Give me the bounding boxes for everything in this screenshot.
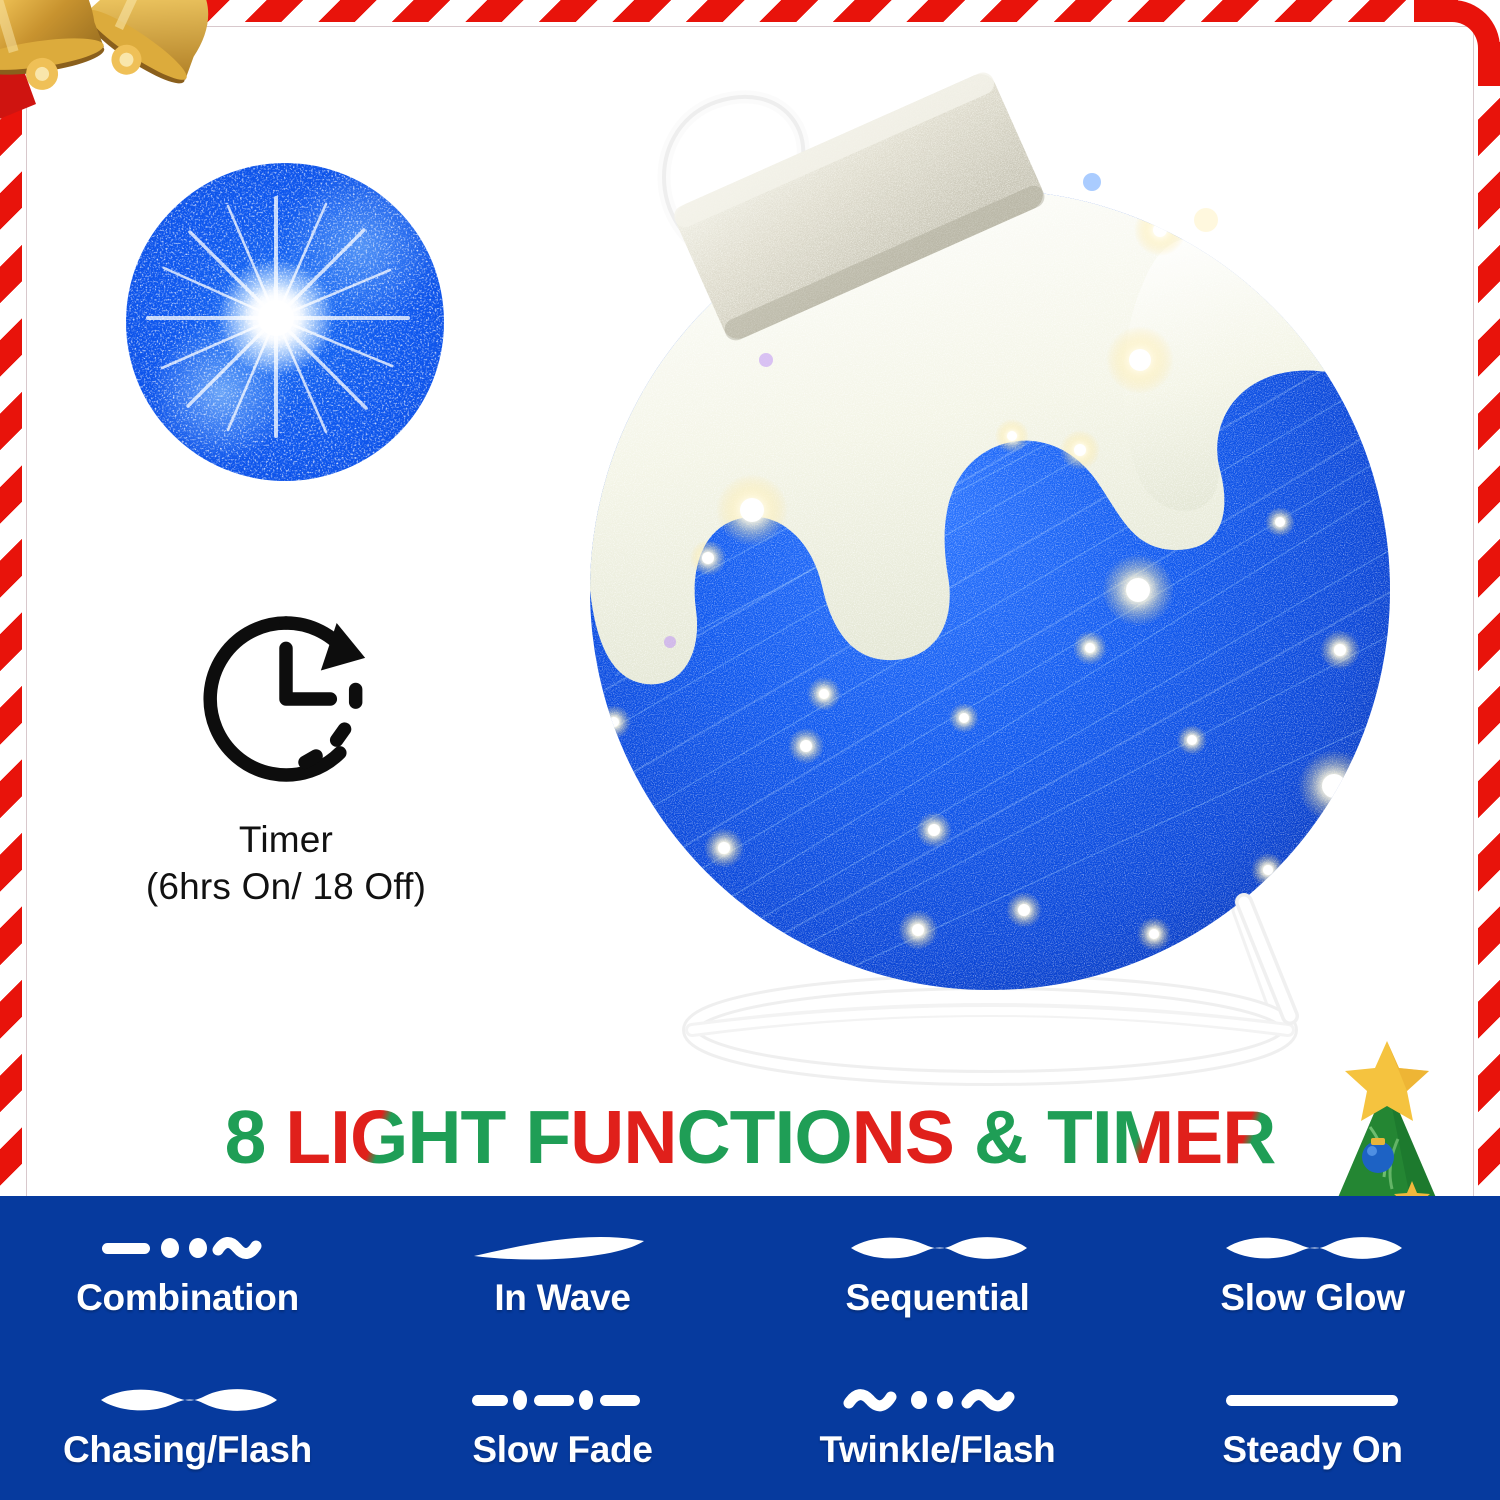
headline-letter-18: & (974, 1096, 1027, 1178)
function-sequential: Sequential (750, 1196, 1125, 1348)
headline-letter-4: G (350, 1096, 407, 1178)
product-photo-ornament (520, 30, 1460, 1090)
tilde-dot-dot-tilde-icon (843, 1377, 1033, 1423)
starburst-icon (126, 163, 444, 481)
function-slow-glow: Slow Glow (1125, 1196, 1500, 1348)
border-top (42, 0, 1458, 22)
headline-letter-3: I (330, 1096, 350, 1178)
headline-letter-13: I (774, 1096, 794, 1178)
function-chasing-flash: Chasing/Flash (0, 1348, 375, 1500)
function-in-wave: In Wave (375, 1196, 750, 1348)
function-slow-fade: Slow Fade (375, 1348, 750, 1500)
lens-sweep-icon (468, 1225, 658, 1271)
function-label-twinkle-flash: Twinkle/Flash (820, 1429, 1056, 1471)
headline-letter-12: T (730, 1096, 775, 1178)
function-label-slow-fade: Slow Fade (472, 1429, 652, 1471)
dash-dot-dot-tilde-icon (98, 1225, 278, 1271)
function-steady-on: Steady On (1125, 1348, 1500, 1500)
double-lens-icon (93, 1377, 283, 1423)
timer-feature: Timer (6hrs On/ 18 Off) (96, 604, 476, 911)
function-label-slow-glow: Slow Glow (1220, 1277, 1404, 1319)
clock-timer-icon (191, 604, 381, 794)
headline-letter-2: L (285, 1096, 330, 1178)
light-functions-panel: Combination In Wave Sequential Slow Glow… (0, 1196, 1500, 1500)
solid-bar-icon (1218, 1377, 1408, 1423)
function-label-in-wave: In Wave (494, 1277, 630, 1319)
headline-letter-21: I (1092, 1096, 1112, 1178)
function-combination: Combination (0, 1196, 375, 1348)
timer-label-line1: Timer (96, 816, 476, 863)
headline-letter-8: F (525, 1096, 570, 1178)
function-row-2: Chasing/Flash Slow Fade Twinkle/Flash St… (0, 1348, 1500, 1500)
headline-letter-6: T (460, 1096, 505, 1178)
headline-letter-5: H (407, 1096, 460, 1178)
headline-letter-24: R (1222, 1096, 1275, 1178)
headline-letter-15: N (852, 1096, 905, 1178)
double-lens-icon (1218, 1225, 1408, 1271)
headline-letter-14: O (794, 1096, 851, 1178)
function-label-sequential: Sequential (845, 1277, 1029, 1319)
function-label-combination: Combination (76, 1277, 299, 1319)
headline-letter-11: C (676, 1096, 729, 1178)
dash-dot-dash-dot-dash-icon (468, 1377, 658, 1423)
headline-letter-20: T (1047, 1096, 1092, 1178)
headline-letter-10: N (623, 1096, 676, 1178)
christmas-tree-icon (1312, 1035, 1462, 1210)
headline-letter-23: E (1173, 1096, 1222, 1178)
christmas-bells-icon (0, 0, 246, 192)
function-twinkle-flash: Twinkle/Flash (750, 1348, 1125, 1500)
function-label-chasing-flash: Chasing/Flash (63, 1429, 312, 1471)
poster-canvas: Timer (6hrs On/ 18 Off) 8LIGHTFUNCTIONS&… (0, 0, 1500, 1500)
headline-letter-16: S (905, 1096, 954, 1178)
headline-letter-22: M (1112, 1096, 1173, 1178)
function-label-steady-on: Steady On (1222, 1429, 1402, 1471)
page-headline: 8LIGHTFUNCTIONS&TIMER (0, 1096, 1500, 1178)
headline-letter-0: 8 (225, 1096, 266, 1178)
blue-light-color-swatch (126, 163, 444, 481)
double-lens-icon (843, 1225, 1033, 1271)
function-row-1: Combination In Wave Sequential Slow Glow (0, 1196, 1500, 1348)
headline-letter-9: U (570, 1096, 623, 1178)
timer-label-line2: (6hrs On/ 18 Off) (96, 863, 476, 910)
